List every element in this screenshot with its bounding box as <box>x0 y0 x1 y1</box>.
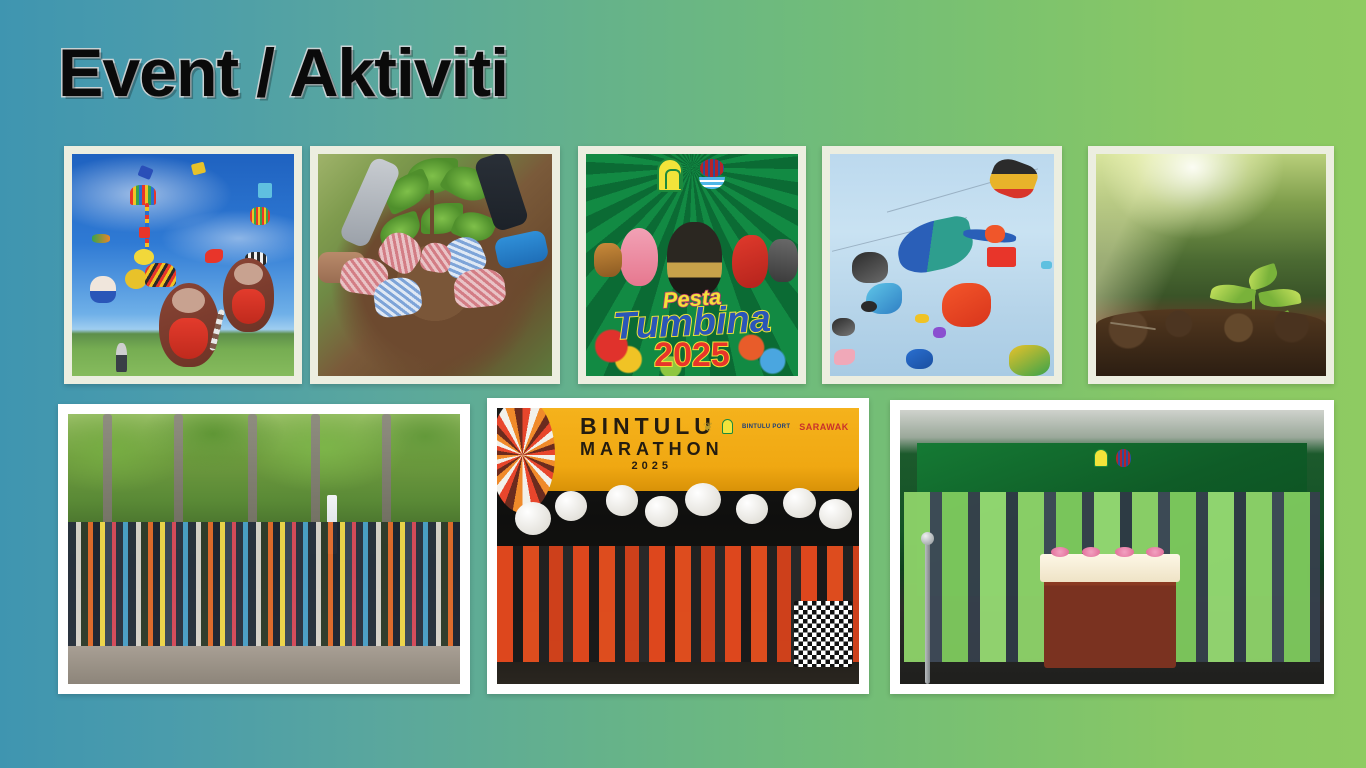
backdrop-logos <box>917 449 1307 467</box>
cake-flower-decor <box>1051 547 1069 557</box>
cake-table <box>1044 574 1175 667</box>
kite-shape <box>861 301 877 312</box>
kite-shape <box>130 185 157 205</box>
poster-wordmark-main: Tumbina <box>586 298 798 347</box>
photo-seedling-soil-sunlight <box>1096 154 1326 376</box>
kite-shape <box>933 327 946 338</box>
marathon-banner: BINTULU MARATHON 2025 ❦ BINTULU PORT SAR… <box>519 408 859 491</box>
marathon-sponsor-logos: ❦ BINTULU PORT SARAWAK <box>703 419 849 435</box>
kite-shape <box>1009 345 1049 376</box>
crest-logo-icon <box>657 158 683 192</box>
photo-animal-kites-sky <box>830 154 1054 376</box>
ceremonial-cake <box>1040 554 1179 582</box>
hornbill-emblem-icon: ❦ <box>703 419 713 435</box>
kite-shape <box>205 249 223 262</box>
soil-mound <box>1096 309 1326 376</box>
poster-wordmark: Pesta Tumbina 2025 <box>586 288 798 372</box>
photo-kite-festival-chipmunk <box>72 154 294 376</box>
macaw-illustration <box>732 235 768 288</box>
marathon-title-year: 2025 <box>580 461 724 472</box>
chipmunk-kite <box>223 258 274 331</box>
balloon <box>783 488 816 518</box>
kite-shape <box>852 252 888 283</box>
kite-shape <box>1041 261 1052 270</box>
poster-logos <box>586 158 798 192</box>
cake-flower-decor <box>1082 547 1100 557</box>
globe-emblem-icon <box>1116 449 1131 467</box>
arm <box>493 229 550 270</box>
photo-tree-planting-hands <box>318 154 552 376</box>
photo-tile-animal-kites[interactable] <box>822 146 1062 384</box>
dinosaur-kite <box>942 283 991 327</box>
paved-ground <box>68 646 460 684</box>
kite-shape <box>915 314 928 323</box>
tree-canopy <box>68 414 460 527</box>
sarawak-logo: SARAWAK <box>799 419 849 435</box>
kite-shape <box>134 249 154 265</box>
photo-community-group <box>68 414 460 684</box>
kite-shape <box>139 227 150 238</box>
kite-shape <box>906 349 933 369</box>
photo-cake-cutting-ceremony <box>900 410 1324 684</box>
seahorse-kite <box>893 213 978 277</box>
kite-shape <box>250 207 270 225</box>
globe-emblem-icon <box>697 158 727 192</box>
page-title: Event / Aktiviti <box>58 38 508 109</box>
flamingo-illustration <box>620 228 658 285</box>
balloon <box>736 494 769 524</box>
photo-tile-tree-planting[interactable] <box>310 146 560 384</box>
balloon <box>555 491 588 521</box>
kite-shape <box>987 154 1041 203</box>
crest-logo-icon <box>1094 449 1108 467</box>
kite-shape <box>258 183 271 199</box>
kite-shape <box>832 318 854 336</box>
photo-tile-seedling[interactable] <box>1088 146 1334 384</box>
kite-shape <box>125 269 147 289</box>
marathon-title-line2: MARATHON <box>580 440 724 458</box>
bintulu-port-logo: BINTULU PORT <box>742 419 790 435</box>
seedling-leaf <box>1258 286 1302 311</box>
kite-shape <box>145 263 176 287</box>
marathon-sunburst-logo-icon <box>497 408 555 513</box>
photo-tile-kite-festival[interactable] <box>64 146 302 384</box>
rope-stanchion <box>925 542 930 684</box>
balloon <box>515 502 551 535</box>
photo-tile-group-photo[interactable] <box>58 404 470 694</box>
kite-shape <box>191 161 207 175</box>
balloon <box>685 483 721 516</box>
photo-tile-cake-ceremony[interactable] <box>890 400 1334 694</box>
crowd-of-participants <box>68 522 460 652</box>
photo-bintulu-marathon-start: BINTULU MARATHON 2025 ❦ BINTULU PORT SAR… <box>497 408 859 684</box>
balloon <box>606 485 639 515</box>
kite-shape <box>90 276 117 303</box>
kite-shape <box>92 234 110 243</box>
cake-flower-decor <box>1115 547 1133 557</box>
balloon <box>645 496 678 526</box>
photo-tile-pesta-tumbina-poster[interactable]: Pesta Tumbina 2025 <box>578 146 806 384</box>
chipmunk-kite <box>159 283 219 367</box>
slide-canvas: Event / Aktiviti <box>0 0 1366 768</box>
photo-pesta-tumbina-poster: Pesta Tumbina 2025 <box>586 154 798 376</box>
kite-shape <box>834 349 854 365</box>
balloon <box>819 499 852 529</box>
crest-logo-icon <box>722 419 733 434</box>
checkered-flag <box>794 601 852 667</box>
kite-shape <box>985 225 1005 243</box>
hornbill-illustration <box>594 243 622 278</box>
photo-tile-bintulu-marathon[interactable]: BINTULU MARATHON 2025 ❦ BINTULU PORT SAR… <box>487 398 869 694</box>
kite-shape <box>137 165 153 180</box>
deer-illustration <box>768 239 798 282</box>
cake-flower-decor <box>1146 547 1164 557</box>
seedling-leaf <box>1245 263 1280 291</box>
spectator-silhouette <box>116 343 127 372</box>
kite-shape <box>987 247 1016 267</box>
